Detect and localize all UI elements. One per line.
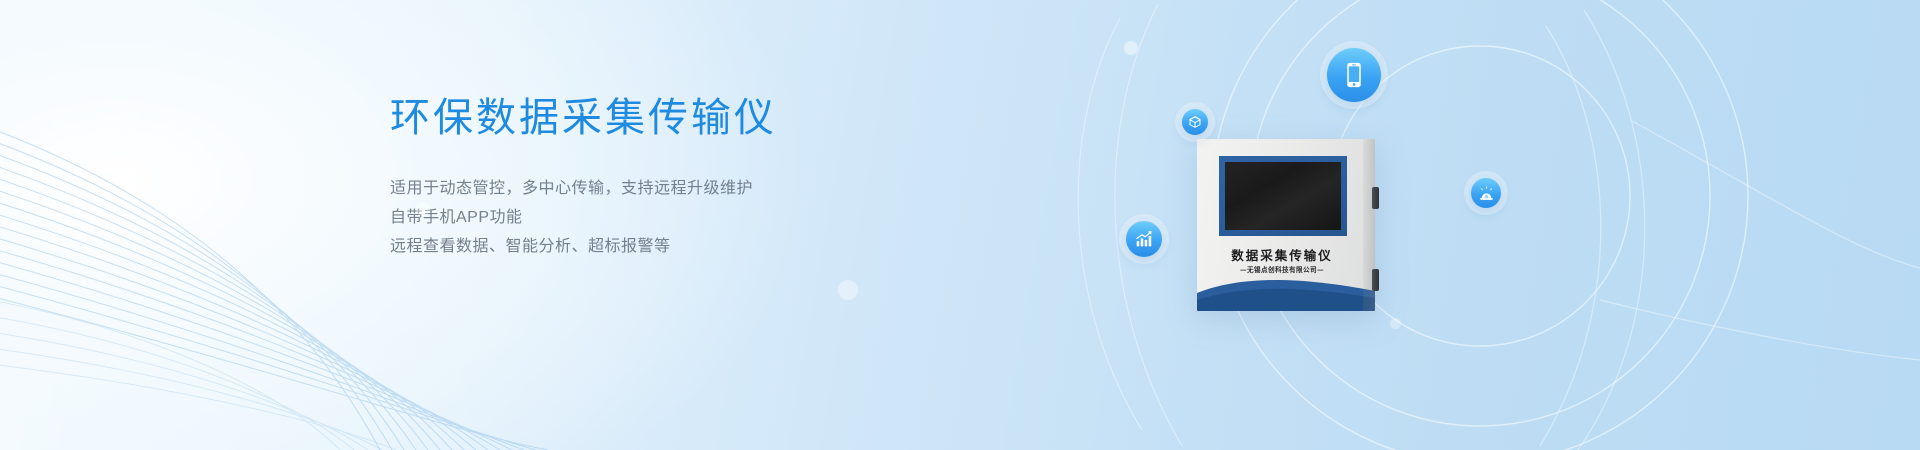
bubble-decoration xyxy=(1390,318,1401,329)
device-wave-graphic xyxy=(1197,273,1375,311)
feature-line-3: 远程查看数据、智能分析、超标报警等 xyxy=(390,232,910,261)
device-screen-frame xyxy=(1219,156,1347,236)
device-side-connector xyxy=(1372,269,1379,291)
feature-list: 适用于动态管控，多中心传输，支持远程升级维护 自带手机APP功能 远程查看数据、… xyxy=(390,174,910,261)
device-cabinet: 数据采集传输仪 —无锡点创科技有限公司— xyxy=(1197,139,1375,311)
alarm-icon[interactable] xyxy=(1471,178,1501,208)
bubble-decoration xyxy=(416,202,430,216)
bubble-decoration xyxy=(838,280,858,300)
device-screen xyxy=(1225,162,1341,230)
phone-icon[interactable] xyxy=(1327,48,1381,102)
device-side-connector xyxy=(1372,187,1379,209)
cube-icon[interactable] xyxy=(1182,109,1208,135)
product-image: 数据采集传输仪 —无锡点创科技有限公司— xyxy=(1197,139,1375,311)
page-title: 环保数据采集传输仪 xyxy=(390,92,910,144)
feature-line-2: 自带手机APP功能 xyxy=(390,203,910,232)
chart-icon[interactable] xyxy=(1126,221,1162,257)
hero-copy: 环保数据采集传输仪 适用于动态管控，多中心传输，支持远程升级维护 自带手机APP… xyxy=(390,92,910,261)
ribbon-decoration xyxy=(0,0,1920,450)
feature-line-1: 适用于动态管控，多中心传输，支持远程升级维护 xyxy=(390,174,910,203)
hero-banner: 环保数据采集传输仪 适用于动态管控，多中心传输，支持远程升级维护 自带手机APP… xyxy=(0,0,1920,450)
bubble-decoration xyxy=(1124,41,1138,55)
device-brand-name: 数据采集传输仪 xyxy=(1197,245,1367,264)
